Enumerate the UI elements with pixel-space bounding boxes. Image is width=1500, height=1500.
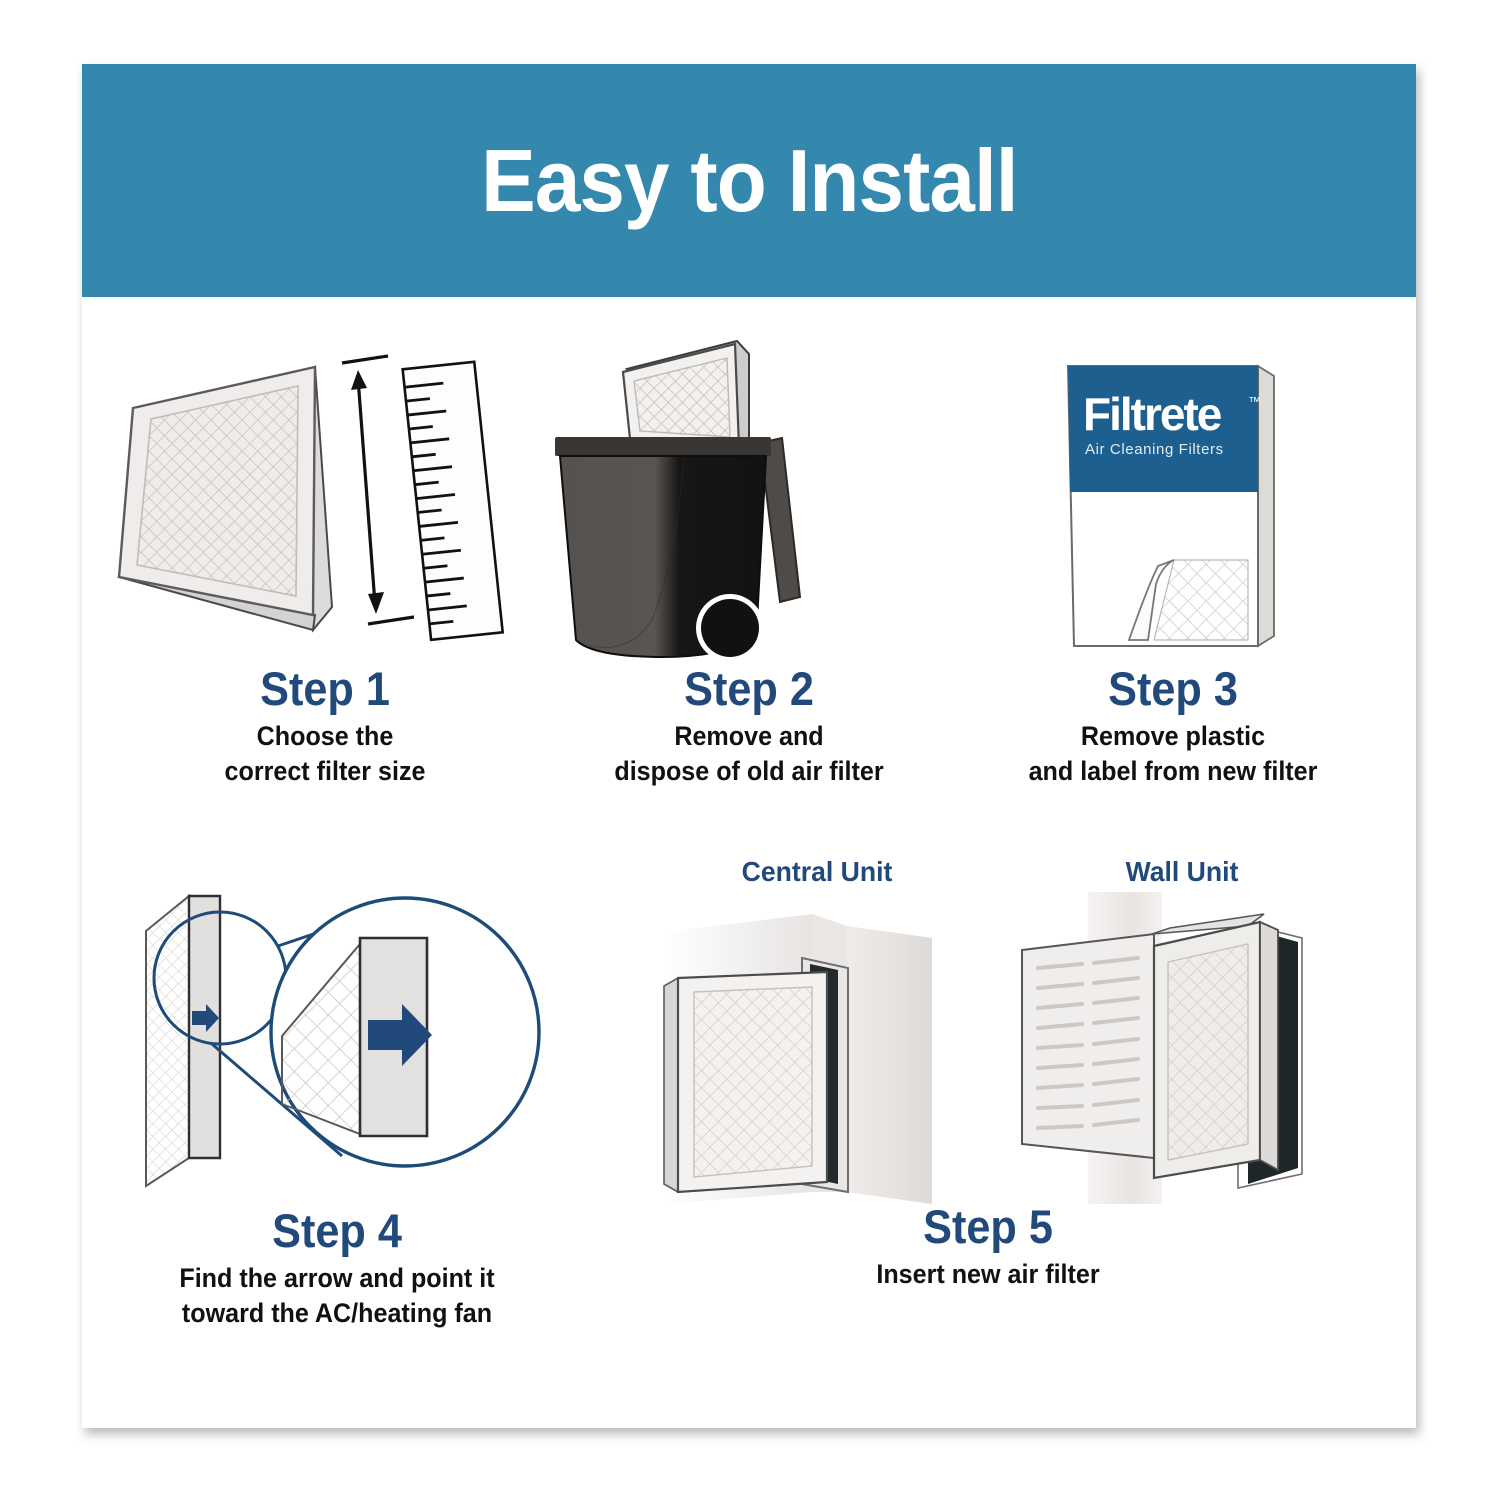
step-4-cell: Step 4 Find the arrow and point it towar… bbox=[102, 856, 572, 1330]
central-wall-right bbox=[847, 926, 932, 1204]
central-unit-illustration bbox=[642, 892, 992, 1204]
step-1-description: Choose the correct filter size bbox=[125, 719, 525, 788]
step-5-description: Insert new air filter bbox=[610, 1257, 1365, 1292]
arrow-head-up bbox=[351, 370, 367, 390]
wall-unit-label: Wall Unit bbox=[1011, 856, 1353, 888]
step-2-description: Remove and dispose of old air filter bbox=[549, 719, 949, 788]
wall-new-filter bbox=[1154, 922, 1278, 1178]
louvered-vent-door bbox=[1022, 934, 1154, 1158]
step-2-illustration bbox=[534, 310, 964, 664]
step-5-title: Step 5 bbox=[614, 1202, 1361, 1251]
step-3-title: Step 3 bbox=[975, 664, 1371, 713]
old-air-filter bbox=[623, 341, 749, 447]
wall-unit-group: Wall Unit bbox=[1002, 856, 1362, 1204]
header-banner: Easy to Install bbox=[82, 64, 1416, 297]
ruler bbox=[403, 362, 503, 640]
step-2-cell: Step 2 Remove and dispose of old air fil… bbox=[534, 310, 964, 788]
step-1-cell: Step 1 Choose the correct filter size bbox=[110, 334, 540, 788]
infographic-canvas: Easy to Install bbox=[0, 0, 1500, 1500]
filtrete-logo-text: Filtrete bbox=[1083, 388, 1222, 440]
bin-wheel bbox=[701, 599, 759, 657]
content-card: Easy to Install bbox=[82, 64, 1416, 1428]
wall-unit-illustration bbox=[1002, 892, 1362, 1204]
step-4-illustration bbox=[102, 856, 572, 1206]
air-filter-body bbox=[119, 367, 332, 630]
central-new-filter bbox=[664, 972, 827, 1192]
step-5-cell: Central Unit bbox=[582, 856, 1394, 1292]
step-4-description: Find the arrow and point it toward the A… bbox=[118, 1261, 555, 1330]
central-unit-label: Central Unit bbox=[651, 856, 984, 888]
step-4-title: Step 4 bbox=[121, 1206, 553, 1255]
step-3-cell: Filtrete ™ Air Cleaning Filters Step 3 R… bbox=[958, 334, 1388, 788]
step-2-title: Step 2 bbox=[551, 664, 947, 713]
filter-edge-view-small bbox=[146, 896, 220, 1186]
step-1-title: Step 1 bbox=[127, 664, 523, 713]
bin-rim bbox=[555, 437, 771, 456]
step-5-units-row: Central Unit bbox=[582, 856, 1394, 1206]
measure-arrow bbox=[342, 356, 414, 624]
step-3-description: Remove plastic and label from new filter bbox=[973, 719, 1373, 788]
package-tagline: Air Cleaning Filters bbox=[1085, 441, 1224, 458]
step-3-illustration: Filtrete ™ Air Cleaning Filters bbox=[958, 334, 1388, 664]
step-1-illustration bbox=[110, 334, 540, 664]
arrow-head-down bbox=[368, 592, 384, 614]
trademark-symbol: ™ bbox=[1248, 394, 1261, 409]
page-title: Easy to Install bbox=[481, 137, 1017, 225]
central-unit-group: Central Unit bbox=[642, 856, 992, 1204]
